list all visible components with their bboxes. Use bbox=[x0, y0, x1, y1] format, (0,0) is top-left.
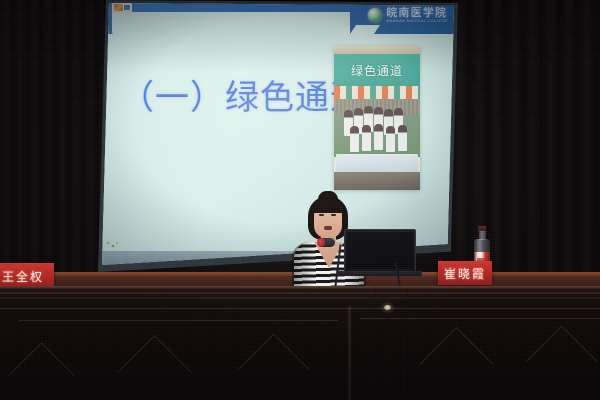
eye-left bbox=[319, 214, 324, 216]
panel-divider bbox=[348, 306, 351, 400]
eye-right bbox=[331, 214, 336, 216]
panel-moulding-right bbox=[360, 318, 600, 319]
panel-moulding-top bbox=[0, 308, 600, 309]
panel-chevron bbox=[525, 325, 597, 397]
stage-curtain-left bbox=[0, 0, 104, 300]
slide-header-notch bbox=[112, 12, 350, 34]
powerpoint-icon bbox=[112, 3, 132, 13]
photo-banner-text: 绿色通道 bbox=[351, 62, 403, 79]
slide-corner-marks bbox=[106, 241, 120, 249]
panel-chevron bbox=[237, 333, 309, 400]
nameplate-left-text: 王全权 bbox=[2, 268, 44, 285]
slide-photo: 绿色通道 bbox=[334, 46, 420, 190]
nameplate-right: 崔晓霞 bbox=[438, 261, 492, 285]
powerpoint-slide: 皖南医学院 WANNAN MEDICAL COLLEGE （一）绿色通道 绿色通… bbox=[102, 3, 454, 251]
photo-tent-valance bbox=[334, 86, 420, 99]
laptop bbox=[344, 229, 416, 273]
stage-rail-top bbox=[0, 286, 600, 289]
auditorium-photo: 皖南医学院 WANNAN MEDICAL COLLEGE （一）绿色通道 绿色通… bbox=[0, 0, 600, 400]
stage-rail-mid bbox=[0, 292, 600, 294]
microphone-head bbox=[318, 238, 335, 247]
panel-chevron bbox=[419, 327, 494, 400]
panel-moulding-left bbox=[18, 320, 338, 321]
hair-fringe bbox=[311, 200, 345, 213]
nameplate-right-text: 崔晓霞 bbox=[444, 265, 486, 282]
institution-name-en: WANNAN MEDICAL COLLEGE bbox=[386, 20, 448, 23]
projection-screen-surface: 皖南医学院 WANNAN MEDICAL COLLEGE （一）绿色通道 绿色通… bbox=[102, 3, 454, 265]
institution-name-cn: 皖南医学院 bbox=[386, 7, 448, 18]
institution-logo-text: 皖南医学院 WANNAN MEDICAL COLLEGE bbox=[386, 7, 448, 23]
mouth bbox=[324, 226, 332, 230]
photo-foreground-ground bbox=[334, 172, 420, 190]
photo-registration-table bbox=[336, 154, 418, 172]
panel-chevron bbox=[117, 335, 192, 400]
slide-title: （一）绿色通道 bbox=[120, 81, 365, 115]
stage-floor-light bbox=[384, 305, 391, 310]
institution-logo: 皖南医学院 WANNAN MEDICAL COLLEGE bbox=[368, 7, 448, 23]
laptop-base bbox=[338, 271, 422, 276]
laptop-screen bbox=[347, 232, 413, 269]
stage-rail-low bbox=[0, 297, 600, 299]
panel-chevron bbox=[8, 342, 74, 400]
stage-front-panelling bbox=[0, 286, 600, 400]
photo-banner: 绿色通道 bbox=[334, 54, 420, 86]
college-seal-icon bbox=[368, 8, 382, 22]
